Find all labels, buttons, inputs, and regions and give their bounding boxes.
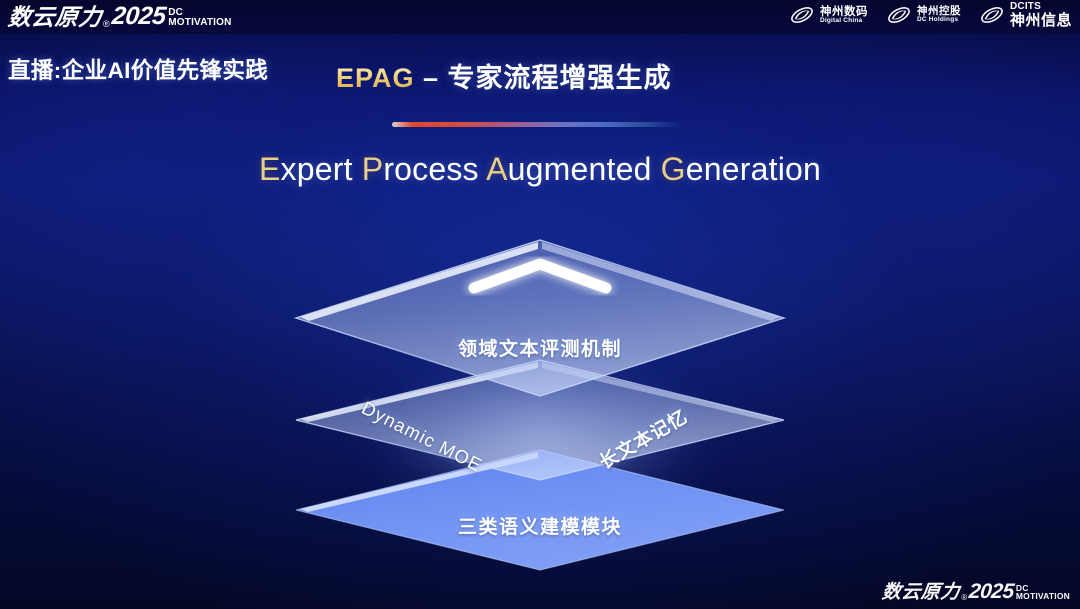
partner-logo-row: 神州数码 Digital China 神州控股 DC Holdings	[789, 2, 1072, 28]
brand-registered-mark: ®	[103, 20, 110, 29]
brand-year: 2025	[968, 581, 1015, 602]
subtitle-word-expert: xpert	[281, 151, 362, 187]
brand-dc-motivation: DC MOTIVATION	[1016, 584, 1070, 602]
brand-year: 2025	[110, 4, 166, 29]
page-title: EPAG – 专家流程增强生成	[336, 56, 672, 95]
brand-dc-line2: MOTIVATION	[1016, 591, 1070, 601]
gradient-divider	[392, 122, 680, 127]
partner-name-en: Digital China	[820, 18, 868, 25]
title-acronym: EPAG	[336, 63, 415, 93]
diagram-canvas	[276, 222, 804, 572]
partner-name-en: DC Holdings	[917, 17, 961, 24]
presentation-slide: 数云原力 ® 2025 DC MOTIVATION 神州数码 Digital C…	[0, 0, 1080, 609]
partner-name-en: DCITS	[1010, 2, 1072, 13]
brand-dc-line2: MOTIVATION	[168, 17, 231, 28]
partner-logo-text: DCITS 神州信息	[1010, 2, 1072, 28]
title-subtitle-cn: – 专家流程增强生成	[415, 63, 672, 93]
brand-logo-top-left: 数云原力 ® 2025 DC MOTIVATION	[8, 4, 232, 29]
partner-name-cn: 神州数码	[820, 6, 868, 18]
subtitle-expanded-acronym: Expert Process Augmented Generation	[0, 151, 1080, 188]
layered-architecture-diagram: 领域文本评测机制 Dynamic MOE 长文本记忆 三类语义建模模块	[276, 222, 804, 572]
swirl-icon	[789, 2, 815, 28]
brand-name-cn: 数云原力	[881, 583, 961, 602]
swirl-icon	[886, 2, 912, 28]
swirl-icon	[979, 2, 1005, 28]
subtitle-word-process: rocess	[383, 151, 486, 187]
brand-name-cn: 数云原力	[7, 6, 103, 29]
brand-logo-bottom-right: 数云原力 ® 2025 DC MOTIVATION	[882, 581, 1070, 602]
partner-logo-text: 神州控股 DC Holdings	[917, 6, 961, 24]
subtitle-initial-g: G	[661, 151, 686, 187]
partner-logo-dcits: DCITS 神州信息	[979, 2, 1072, 28]
live-broadcast-title: 直播:企业AI价值先锋实践	[8, 53, 268, 85]
partner-name-cn: 神州信息	[1010, 13, 1072, 29]
partner-logo-text: 神州数码 Digital China	[820, 6, 868, 25]
subtitle-initial-e: E	[259, 151, 281, 187]
brand-dc-motivation: DC MOTIVATION	[168, 8, 231, 29]
subtitle-word-generation: eneration	[686, 151, 821, 187]
partner-logo-digital-china: 神州数码 Digital China	[789, 2, 868, 28]
subtitle-word-augmented: ugmented	[508, 151, 661, 187]
brand-registered-mark: ®	[961, 594, 967, 602]
subtitle-initial-a: A	[486, 151, 508, 187]
partner-logo-dc-holdings: 神州控股 DC Holdings	[886, 2, 961, 28]
subtitle-initial-p: P	[362, 151, 384, 187]
